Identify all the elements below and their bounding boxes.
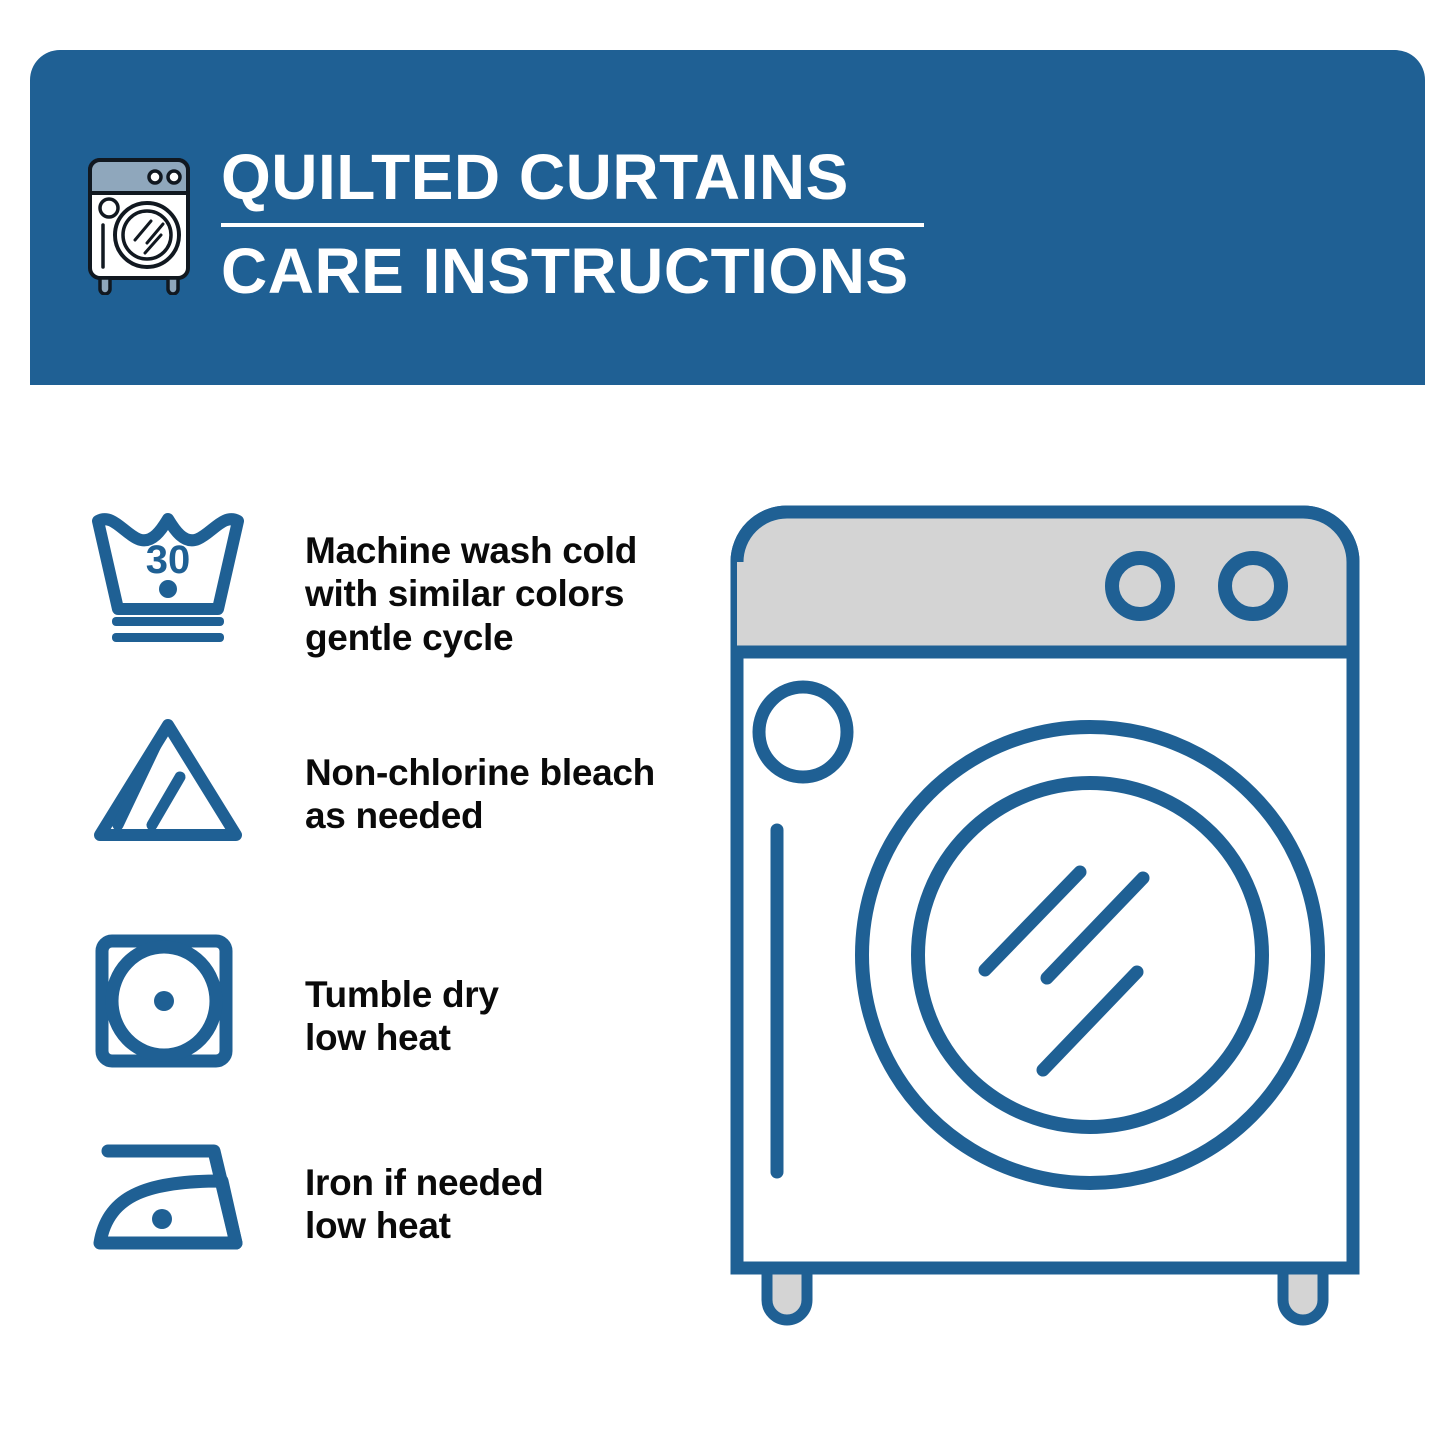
care-icon-cell <box>90 931 305 1071</box>
low-heat-dot <box>152 1209 172 1229</box>
care-instruction-list: 30 Machine wash cold with similar colors… <box>90 505 710 1311</box>
gentle-cycle-dot <box>159 580 177 598</box>
care-item-bleach: Non-chlorine bleach as needed <box>90 713 710 931</box>
header-content: QUILTED CURTAINS CARE INSTRUCTIONS <box>85 145 924 303</box>
care-item-text: Iron if needed low heat <box>305 1131 543 1248</box>
non-chlorine-bleach-triangle-icon <box>90 713 245 853</box>
care-item-text: Machine wash cold with similar colors ge… <box>305 505 637 659</box>
care-item-iron: Iron if needed low heat <box>90 1131 710 1311</box>
care-item-text: Tumble dry low heat <box>305 931 499 1060</box>
care-icon-cell <box>90 1131 305 1261</box>
page-title-line-2: CARE INSTRUCTIONS <box>221 239 924 303</box>
low-heat-dot <box>154 991 174 1011</box>
iron-low-heat-icon <box>90 1131 255 1261</box>
page-title-line-1: QUILTED CURTAINS <box>221 145 924 219</box>
care-item-machine-wash: 30 Machine wash cold with similar colors… <box>90 505 710 713</box>
care-item-tumble-dry: Tumble dry low heat <box>90 931 710 1131</box>
control-panel <box>737 512 1353 652</box>
care-icon-cell <box>90 713 305 853</box>
tumble-dry-low-icon <box>90 931 245 1071</box>
title-divider <box>221 223 924 227</box>
care-item-text: Non-chlorine bleach as needed <box>305 713 655 838</box>
front-load-washing-machine-illustration <box>725 500 1365 1330</box>
header-banner: QUILTED CURTAINS CARE INSTRUCTIONS <box>30 50 1425 385</box>
header-title-block: QUILTED CURTAINS CARE INSTRUCTIONS <box>221 145 924 303</box>
care-icon-cell: 30 <box>90 505 305 645</box>
wash-temperature-label: 30 <box>146 538 191 582</box>
washing-machine-icon <box>85 155 193 295</box>
wash-basin-30-icon: 30 <box>90 505 245 645</box>
